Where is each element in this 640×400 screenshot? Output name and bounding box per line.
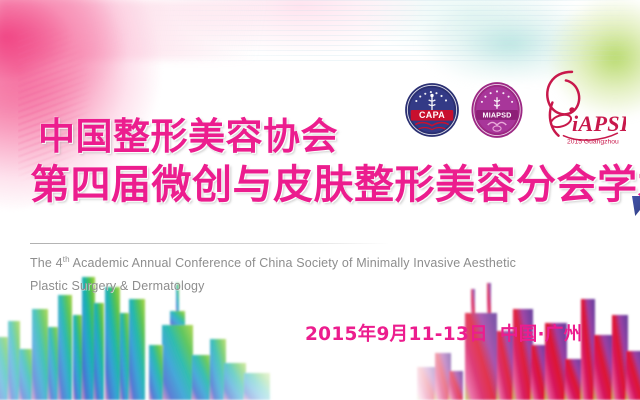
subtitle-line-1-pre: The 4 <box>30 256 63 270</box>
subtitle-ordinal-suffix: th <box>63 255 70 264</box>
subtitle-line-1: The 4th Academic Annual Conference of Ch… <box>30 252 570 275</box>
subtitle-line-1-post: Academic Annual Conference of China Soci… <box>70 256 516 270</box>
horizontal-streaks-decor <box>150 0 640 62</box>
title-block: 中国整形美容协会 第四届微创与皮肤整形美容分会学术年会 <box>30 118 630 205</box>
conference-title-line-2: 第四届微创与皮肤整形美容分会学术年会 <box>30 165 630 205</box>
conference-location: 中国·广州 <box>500 324 583 345</box>
subtitle-line-2: Plastic Surgery & Dermatology <box>30 275 570 298</box>
conference-banner: CAPA MIAPSD <box>0 0 640 400</box>
conference-date: 2015年9月11-13日 <box>305 324 488 345</box>
title-divider <box>30 243 390 244</box>
conference-subtitle-english: The 4th Academic Annual Conference of Ch… <box>30 252 570 298</box>
date-location-line: 2015年9月11-13日中国·广州 <box>305 320 582 346</box>
conference-title-line-1: 中国整形美容协会 <box>38 118 630 155</box>
